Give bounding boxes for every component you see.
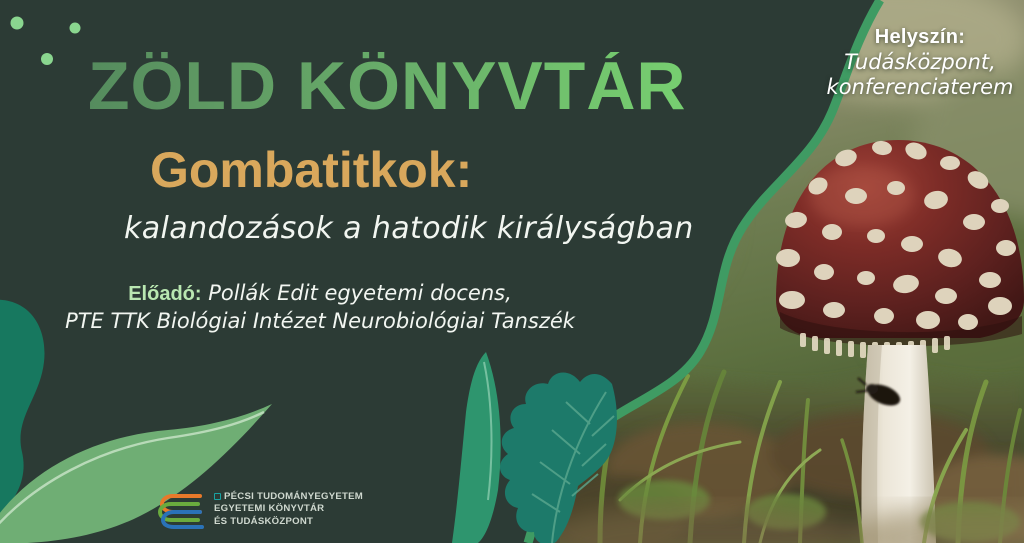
paperclip-logo-icon — [152, 487, 208, 531]
event-tagline: kalandozások a hatodik királyságban — [124, 211, 694, 246]
university-library-logo: PÉCSI TUDOMÁNYEGYETEM EGYETEMI KÖNYVTÁR … — [152, 487, 363, 531]
venue-info: Helyszín: Tudásközpont, konferenciaterem — [820, 26, 1020, 99]
page-title: ZÖLD KÖNYVTÁR — [88, 52, 687, 120]
logo-wordmark: PÉCSI TUDOMÁNYEGYETEM EGYETEMI KÖNYVTÁR … — [214, 491, 363, 527]
speaker-department: PTE TTK Biológiai Intézet Neurobiológiai… — [60, 308, 580, 335]
logo-line-2: EGYETEMI KÖNYVTÁR — [214, 503, 363, 514]
logo-line-1: PÉCSI TUDOMÁNYEGYETEM — [224, 491, 363, 502]
poster-content: ZÖLD KÖNYVTÁR Gombatitkok: kalandozások … — [0, 0, 1024, 543]
speaker-info: Előadó: Pollák Edit egyetemi docens, PTE… — [60, 280, 580, 334]
logo-line-3: ÉS TUDÁSKÖZPONT — [214, 516, 363, 527]
event-subtitle: Gombatitkok: — [150, 145, 472, 195]
poster-canvas: ZÖLD KÖNYVTÁR Gombatitkok: kalandozások … — [0, 0, 1024, 543]
logo-square-icon — [214, 493, 221, 500]
venue-value: Tudásközpont, konferenciaterem — [820, 50, 1020, 99]
speaker-name: Pollák Edit egyetemi docens, — [208, 281, 512, 305]
venue-label: Helyszín: — [820, 26, 1020, 49]
speaker-label: Előadó: — [128, 283, 201, 305]
